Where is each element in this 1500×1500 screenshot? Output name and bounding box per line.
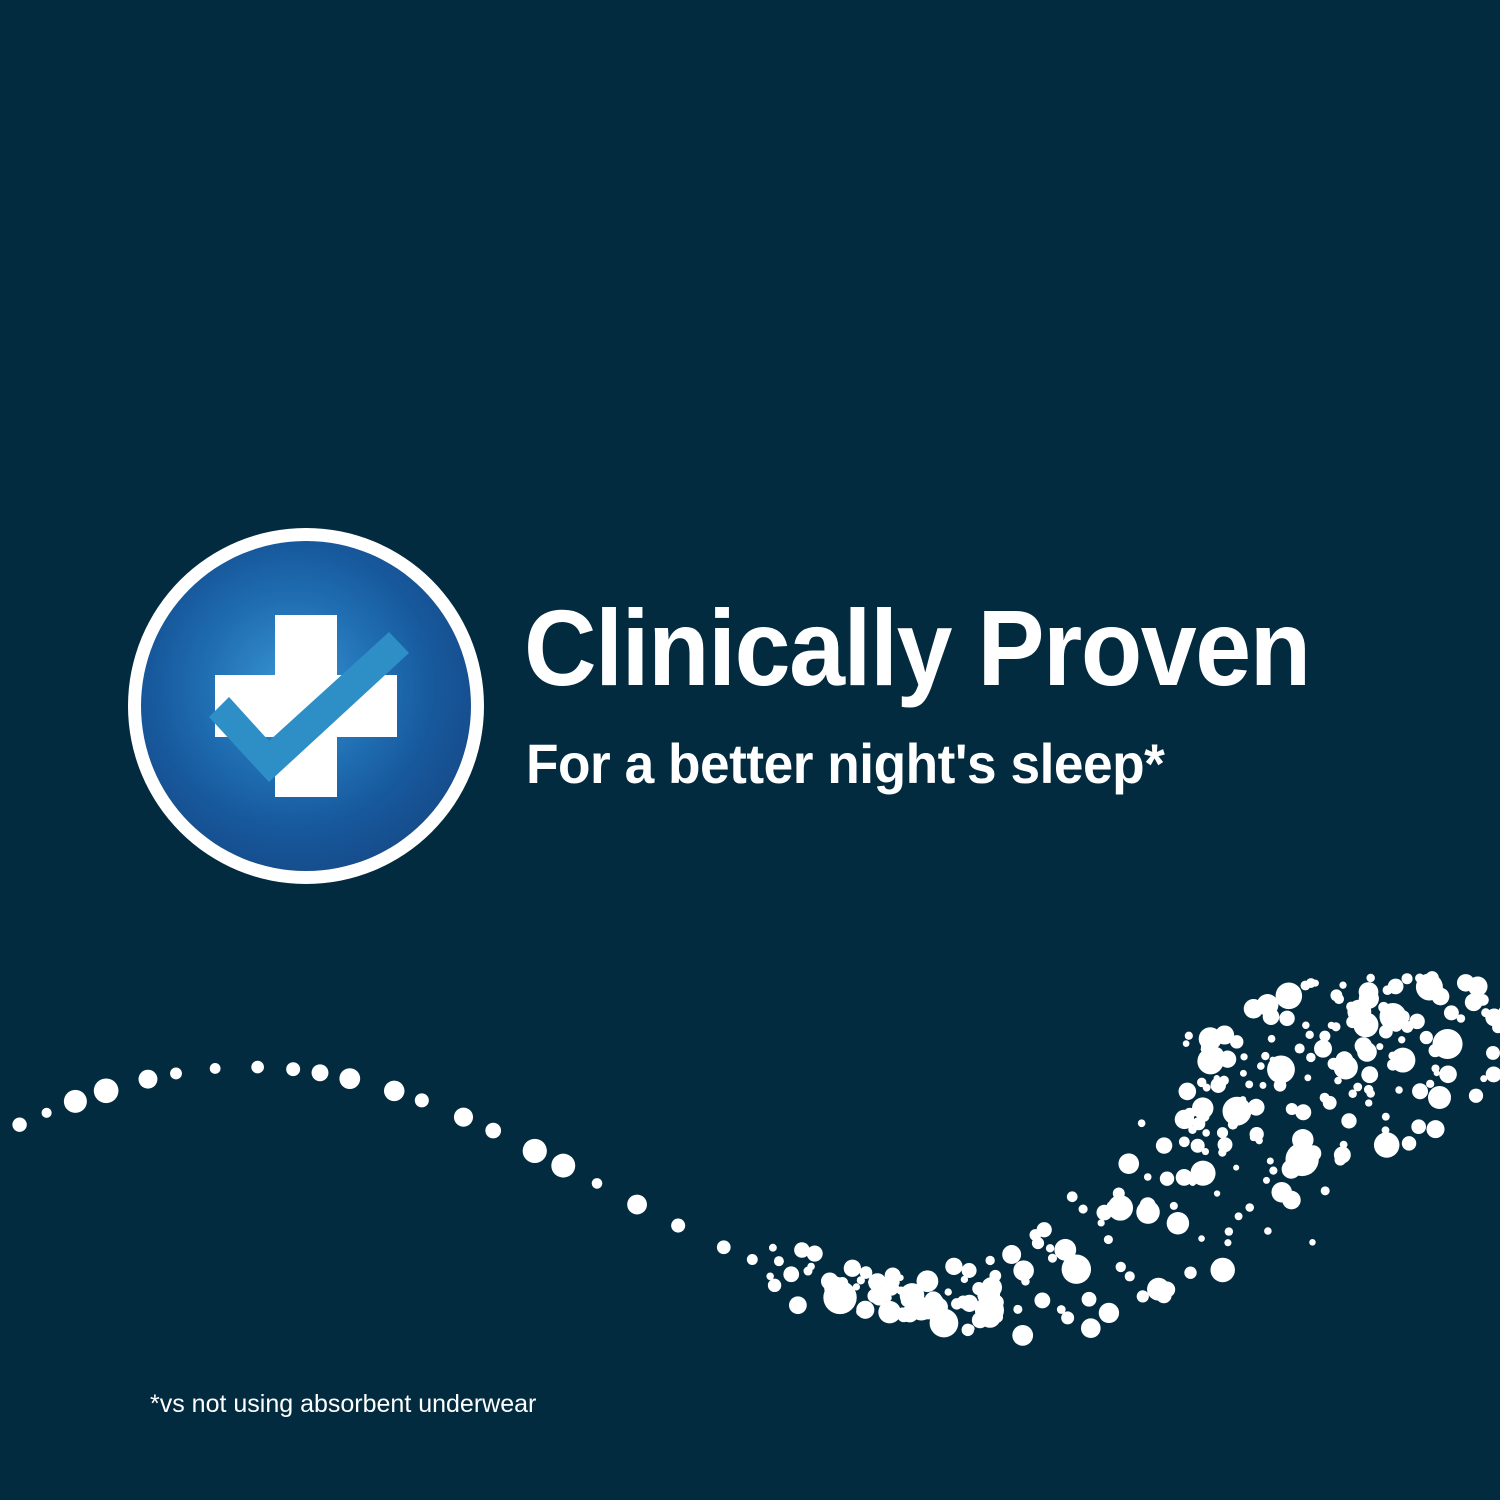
badge-disc bbox=[141, 541, 471, 871]
checkmark-icon bbox=[141, 541, 471, 871]
clinically-proven-badge bbox=[128, 528, 484, 884]
footnote-text: *vs not using absorbent underwear bbox=[150, 1390, 536, 1419]
page-subtitle: For a better night's sleep* bbox=[526, 736, 1164, 792]
page-title: Clinically Proven bbox=[524, 594, 1310, 702]
promo-banner: Clinically Proven For a better night's s… bbox=[0, 0, 1500, 1500]
